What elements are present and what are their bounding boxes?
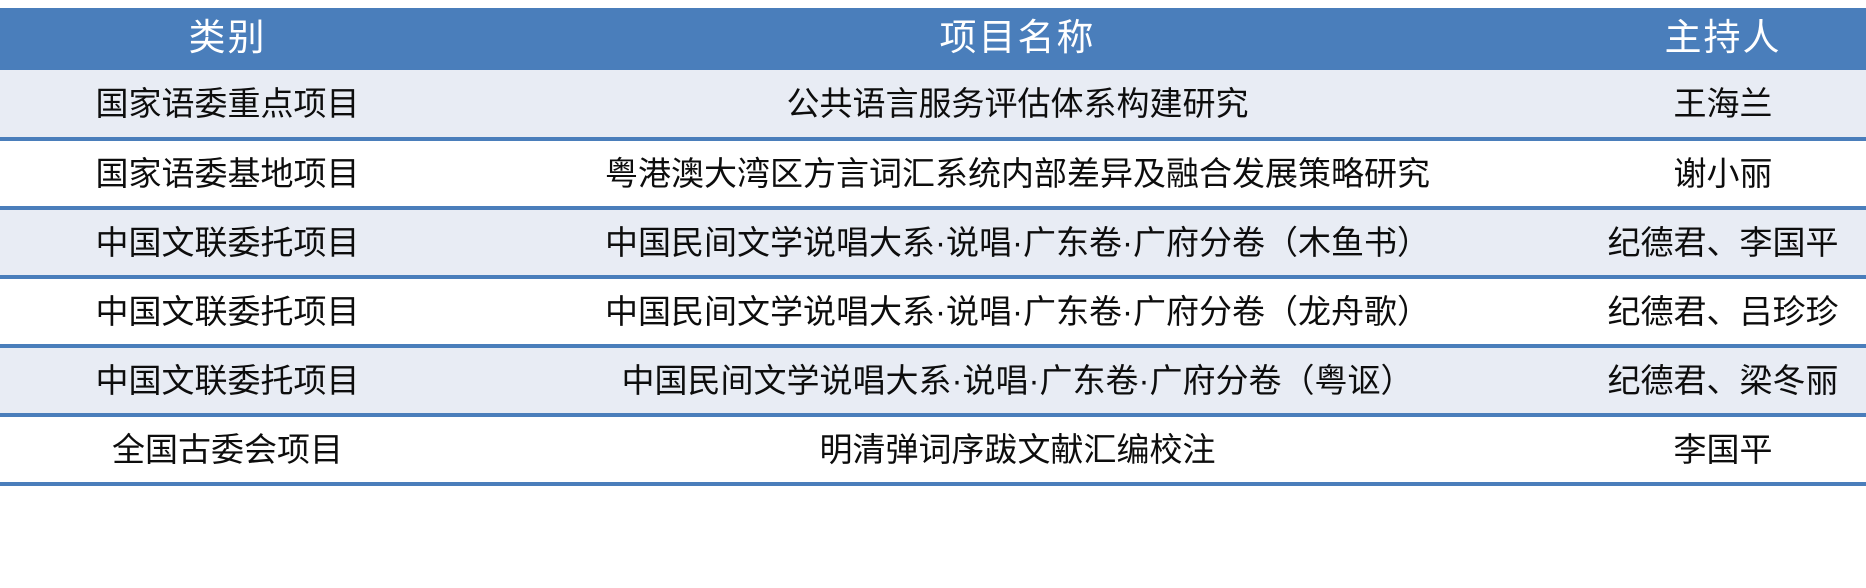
column-header-category: 类别 [0, 8, 455, 70]
cell-leader: 纪德君、吕珍珍 [1580, 277, 1866, 346]
cell-title: 中国民间文学说唱大系·说唱·广东卷·广府分卷（木鱼书） [455, 208, 1580, 277]
column-header-title: 项目名称 [455, 8, 1580, 70]
table-row: 中国文联委托项目 中国民间文学说唱大系·说唱·广东卷·广府分卷（木鱼书） 纪德君… [0, 208, 1866, 277]
table-row: 中国文联委托项目 中国民间文学说唱大系·说唱·广东卷·广府分卷（龙舟歌） 纪德君… [0, 277, 1866, 346]
cell-leader: 纪德君、梁冬丽 [1580, 346, 1866, 415]
table-header: 类别 项目名称 主持人 [0, 8, 1866, 70]
cell-title: 中国民间文学说唱大系·说唱·广东卷·广府分卷（粤讴） [455, 346, 1580, 415]
cell-category: 中国文联委托项目 [0, 208, 455, 277]
cell-category: 全国古委会项目 [0, 415, 455, 484]
cell-leader: 谢小丽 [1580, 139, 1866, 208]
cell-title: 公共语言服务评估体系构建研究 [455, 70, 1580, 139]
table-container: 类别 项目名称 主持人 国家语委重点项目 公共语言服务评估体系构建研究 王海兰 … [0, 0, 1866, 588]
cell-leader: 纪德君、李国平 [1580, 208, 1866, 277]
cell-title: 中国民间文学说唱大系·说唱·广东卷·广府分卷（龙舟歌） [455, 277, 1580, 346]
table-row: 全国古委会项目 明清弹词序跋文献汇编校注 李国平 [0, 415, 1866, 484]
table-row: 中国文联委托项目 中国民间文学说唱大系·说唱·广东卷·广府分卷（粤讴） 纪德君、… [0, 346, 1866, 415]
cell-category: 国家语委基地项目 [0, 139, 455, 208]
table-body: 国家语委重点项目 公共语言服务评估体系构建研究 王海兰 国家语委基地项目 粤港澳… [0, 70, 1866, 484]
cell-category: 中国文联委托项目 [0, 277, 455, 346]
cell-category: 国家语委重点项目 [0, 70, 455, 139]
cell-leader: 王海兰 [1580, 70, 1866, 139]
column-header-leader: 主持人 [1580, 8, 1866, 70]
project-table: 类别 项目名称 主持人 国家语委重点项目 公共语言服务评估体系构建研究 王海兰 … [0, 8, 1866, 486]
cell-title: 粤港澳大湾区方言词汇系统内部差异及融合发展策略研究 [455, 139, 1580, 208]
cell-category: 中国文联委托项目 [0, 346, 455, 415]
cell-title: 明清弹词序跋文献汇编校注 [455, 415, 1580, 484]
table-row: 国家语委重点项目 公共语言服务评估体系构建研究 王海兰 [0, 70, 1866, 139]
table-header-row: 类别 项目名称 主持人 [0, 8, 1866, 70]
table-row: 国家语委基地项目 粤港澳大湾区方言词汇系统内部差异及融合发展策略研究 谢小丽 [0, 139, 1866, 208]
cell-leader: 李国平 [1580, 415, 1866, 484]
